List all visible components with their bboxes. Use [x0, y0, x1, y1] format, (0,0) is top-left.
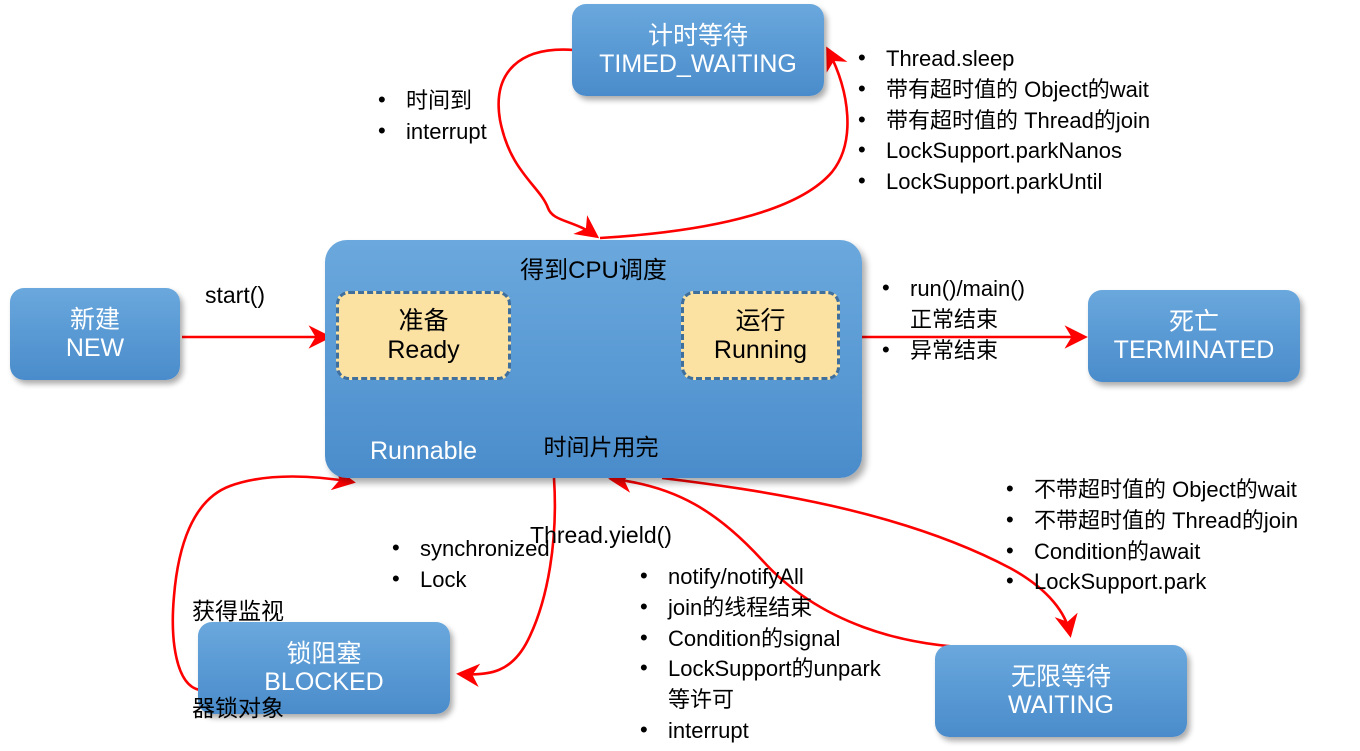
- note-item: Condition的signal: [634, 624, 881, 655]
- state-waiting[interactable]: 无限等待 WAITING: [935, 645, 1187, 737]
- state-waiting-en: WAITING: [1008, 691, 1114, 719]
- note-item: LockSupport.parkNanos: [852, 136, 1150, 167]
- substate-running-cn: 运行: [735, 307, 785, 336]
- state-terminated-en: TERMINATED: [1114, 336, 1275, 364]
- note-item: 器锁对象: [192, 692, 322, 724]
- note-item: 等许可: [634, 685, 881, 716]
- yield-label: 时间片用完 Thread.yield(): [516, 374, 686, 610]
- label-start: start(): [205, 281, 315, 310]
- note-waiting-in: 不带超时值的 Object的wait 不带超时值的 Thread的join Co…: [1000, 475, 1298, 598]
- substate-ready-en: Ready: [387, 336, 459, 365]
- note-blocked-out: 获得监视 器锁对象: [192, 531, 322, 751]
- state-new-en: NEW: [66, 334, 124, 362]
- state-terminated[interactable]: 死亡 TERMINATED: [1088, 290, 1300, 382]
- note-timedwaiting-in: Thread.sleep 带有超时值的 Object的wait 带有超时值的 T…: [852, 44, 1150, 198]
- note-item: 正常结束: [876, 305, 1025, 336]
- thread-state-diagram: 新建 NEW 计时等待 TIMED_WAITING 死亡 TERMINATED …: [0, 0, 1360, 751]
- note-item: 不带超时值的 Thread的join: [1000, 506, 1298, 537]
- note-item: 带有超时值的 Object的wait: [852, 75, 1150, 106]
- note-timedwaiting-out: 时间到 interrupt: [372, 86, 487, 148]
- substate-running[interactable]: 运行 Running: [681, 291, 840, 380]
- note-item: Condition的await: [1000, 537, 1298, 568]
- note-item: 时间到: [372, 86, 487, 117]
- note-item: run()/main(): [876, 274, 1025, 305]
- yield-label-line1: 时间片用完: [516, 433, 686, 462]
- state-terminated-cn: 死亡: [1169, 308, 1219, 336]
- substate-ready-cn: 准备: [398, 307, 448, 336]
- state-new[interactable]: 新建 NEW: [10, 288, 180, 380]
- state-new-cn: 新建: [70, 306, 120, 334]
- note-item: 不带超时值的 Object的wait: [1000, 475, 1298, 506]
- cpu-schedule-label: 得到CPU调度: [325, 250, 862, 285]
- state-timed-waiting-cn: 计时等待: [648, 22, 748, 50]
- yield-label-line2: Thread.yield(): [516, 521, 686, 550]
- substate-ready[interactable]: 准备 Ready: [336, 291, 511, 380]
- state-timed-waiting[interactable]: 计时等待 TIMED_WAITING: [572, 4, 824, 96]
- note-item: interrupt: [634, 716, 881, 747]
- note-item: LockSupport.parkUntil: [852, 167, 1150, 198]
- note-item: LockSupport.park: [1000, 567, 1298, 598]
- state-runnable-label: Runnable: [370, 437, 477, 466]
- state-waiting-cn: 无限等待: [1011, 663, 1111, 691]
- note-item: 带有超时值的 Thread的join: [852, 106, 1150, 137]
- note-item: 异常结束: [876, 336, 1025, 367]
- note-item: LockSupport的unpark: [634, 654, 881, 685]
- state-timed-waiting-en: TIMED_WAITING: [599, 50, 797, 78]
- note-terminated-in: run()/main() 正常结束 异常结束: [876, 274, 1025, 366]
- substate-running-en: Running: [714, 336, 807, 365]
- note-item: interrupt: [372, 117, 487, 148]
- note-item: Thread.sleep: [852, 44, 1150, 75]
- note-item: 获得监视: [192, 595, 322, 627]
